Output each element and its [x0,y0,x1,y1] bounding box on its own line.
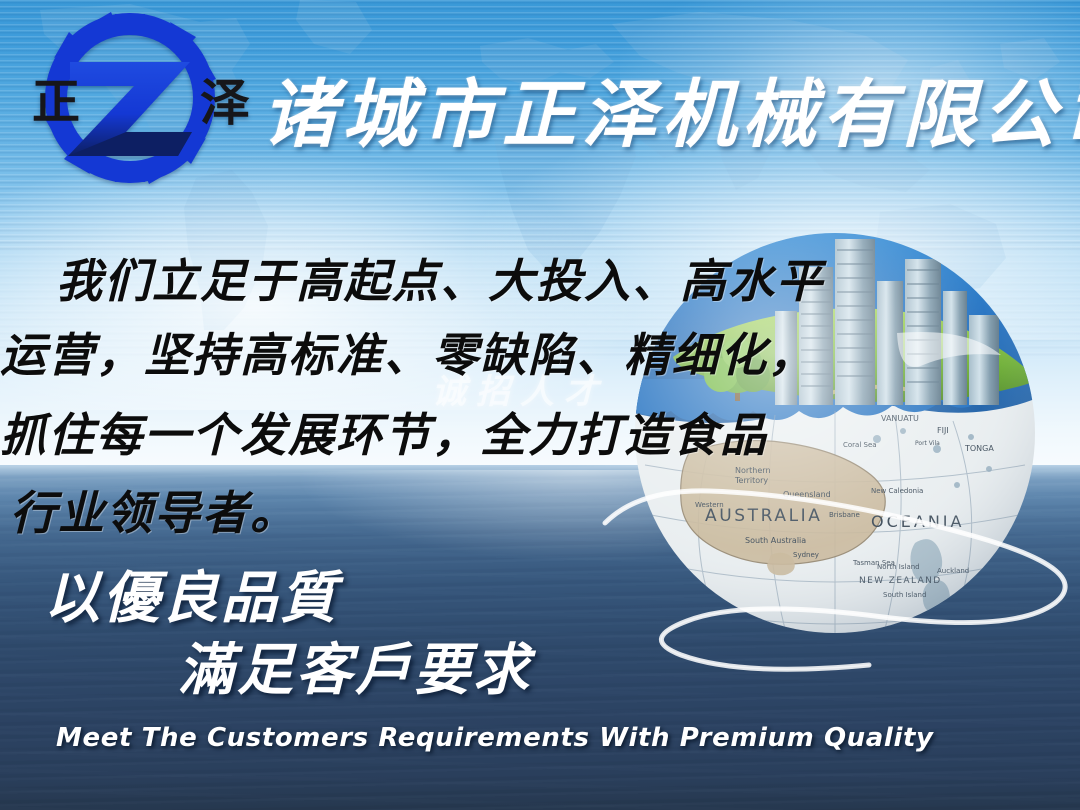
presentation-slide: 正 泽 诸城市正泽机械有限公司 [0,0,1080,810]
slogan-line-1: 以優良品質 [0,566,720,632]
logo-char-left: 正 [32,74,80,130]
slogan-block: 以優良品質 滿足客戶要求 [0,566,720,704]
mission-statement: 我们立足于高起点、大投入、高水平 运营，坚持高标准、零缺陷、精细化， 抓住每一个… [0,244,700,550]
mission-line-3: 抓住每一个发展环节，全力打造食品 [0,398,700,472]
company-logo: 正 泽 [18,8,268,188]
english-tagline: Meet The Customers Requirements With Pre… [56,723,934,753]
logo-monogram-z [68,62,192,156]
mission-line-2: 运营，坚持高标准、零缺陷、精细化， [0,318,700,392]
mission-line-1: 我们立足于高起点、大投入、高水平 [0,244,700,318]
mission-line-4: 行业领导者。 [0,476,700,550]
company-name: 诸城市正泽机械有限公司 [262,62,1062,172]
slogan-line-2: 滿足客戶要求 [0,638,720,704]
logo-char-right: 泽 [200,73,250,132]
